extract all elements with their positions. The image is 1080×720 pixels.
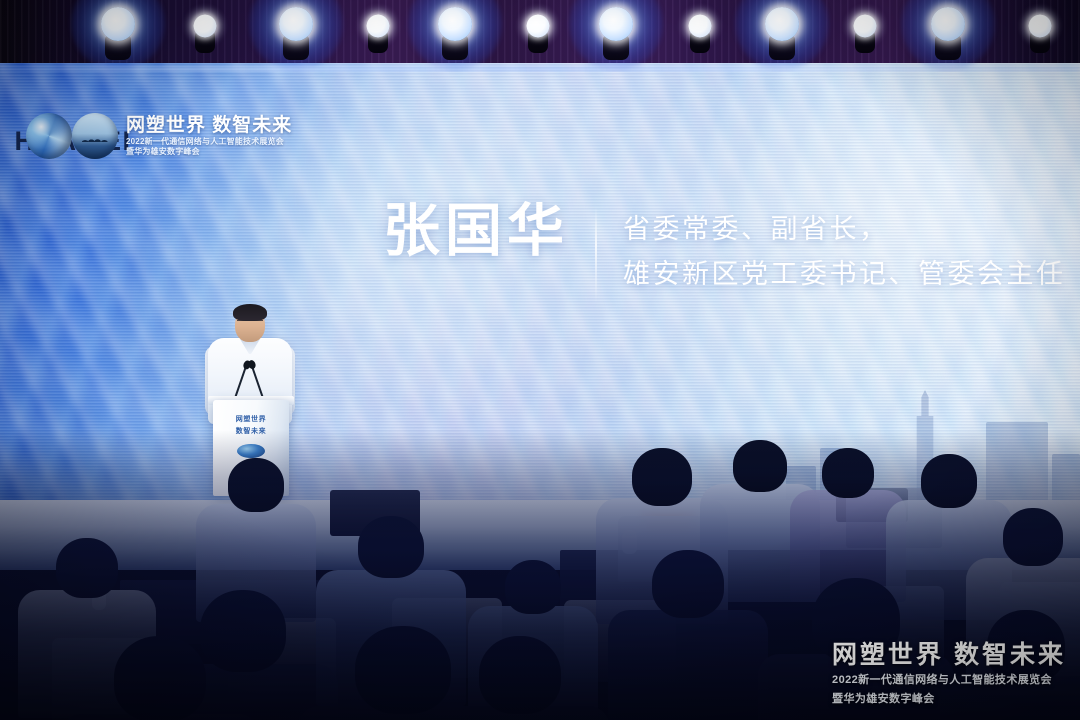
stage-light-blue-icon — [248, 0, 344, 72]
event-brand-title: 网塑世界 数智未来 — [126, 116, 292, 136]
conference-stage-photo: HUAWEI 网塑世界 数智未来 2022新一代通信网络与人工智能技术展览会 暨… — [0, 0, 1080, 720]
stage-light-white-icon — [511, 0, 565, 53]
globe-medallion-icon — [26, 113, 72, 159]
event-brand-subtitle-2: 暨华为雄安数字峰会 — [126, 148, 292, 156]
speaker-name-slate: 张国华 省委常委、副省长， 雄安新区党工委书记、管委会主任 — [383, 203, 1066, 303]
speaker-glasses-icon — [237, 320, 263, 325]
stage-light-white-icon — [838, 0, 892, 53]
speaker-name: 张国华 — [383, 203, 569, 260]
speaker-title-group: 省委常委、副省长， 雄安新区党工委书记、管委会主任 — [623, 203, 1066, 296]
slate-divider — [595, 207, 597, 303]
stage-light-blue-icon — [70, 0, 166, 72]
brand-medallion-group — [26, 113, 118, 159]
stage-light-blue-icon — [900, 0, 996, 72]
stage-light-white-icon — [178, 0, 232, 53]
watermark-subtitle-2: 暨华为雄安数字峰会 — [832, 691, 1066, 708]
stage-light-white-icon — [673, 0, 727, 53]
speaker-title-line-1: 省委常委、副省长， — [623, 207, 1066, 252]
speaker-title-line-2: 雄安新区党工委书记、管委会主任 — [623, 252, 1066, 297]
stage-truss-band — [0, 0, 1080, 72]
stage-light-blue-icon — [734, 0, 830, 72]
event-brand-text: 网塑世界 数智未来 2022新一代通信网络与人工智能技术展览会 暨华为雄安数字峰… — [126, 116, 292, 157]
stage-light-white-icon — [351, 0, 405, 53]
event-brand-subtitle-1: 2022新一代通信网络与人工智能技术展览会 — [126, 138, 292, 146]
speaker-hair — [233, 304, 267, 321]
people-medallion-icon — [72, 113, 118, 159]
stage-light-blue-icon — [407, 0, 503, 72]
podium-brand-line-1: 网塑世界 — [213, 414, 289, 426]
stage-light-blue-icon — [568, 0, 664, 72]
event-watermark: 网塑世界 数智未来 2022新一代通信网络与人工智能技术展览会 暨华为雄安数字峰… — [832, 641, 1066, 708]
stage-light-white-icon — [1013, 0, 1067, 53]
watermark-title: 网塑世界 数智未来 — [832, 641, 1066, 670]
watermark-subtitle-1: 2022新一代通信网络与人工智能技术展览会 — [832, 672, 1066, 689]
event-brand-lockup: 网塑世界 数智未来 2022新一代通信网络与人工智能技术展览会 暨华为雄安数字峰… — [26, 113, 292, 159]
